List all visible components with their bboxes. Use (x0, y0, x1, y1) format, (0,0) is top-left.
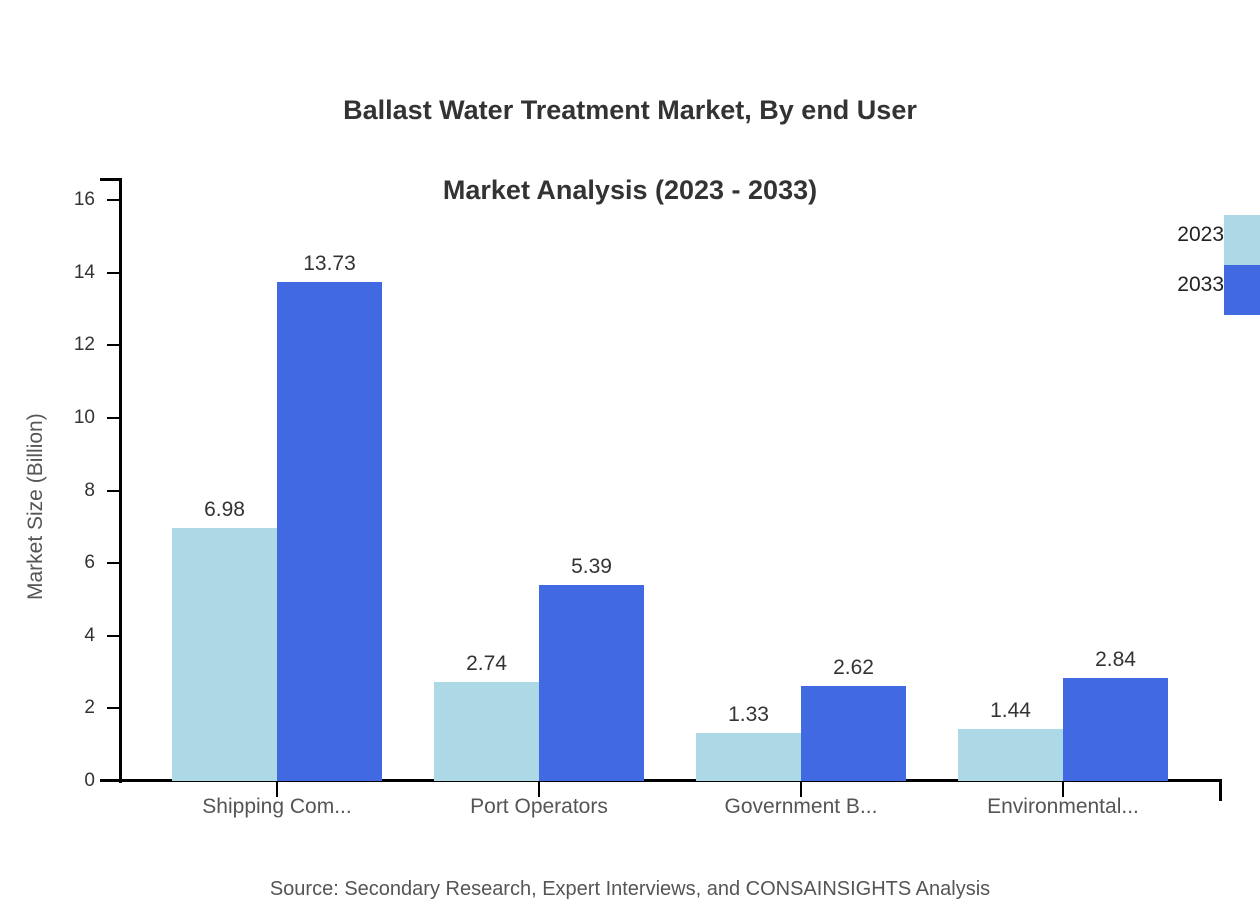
bar-value-label: 2.74 (466, 652, 507, 676)
chart-legend: 20232033 (1120, 215, 1260, 325)
bar-value-label: 2.62 (833, 656, 874, 680)
bar-value-label: 5.39 (571, 555, 612, 579)
legend-swatch (1224, 215, 1260, 265)
bar-2023-3[interactable] (958, 729, 1063, 781)
legend-label: 2033 (1177, 273, 1224, 297)
source-note: Source: Secondary Research, Expert Inter… (0, 878, 1260, 901)
bar-2033-2[interactable] (801, 686, 906, 781)
bar-value-label: 1.44 (990, 699, 1031, 723)
bars-layer: 6.982.741.331.4413.735.392.622.84 (0, 0, 1260, 920)
legend-swatch (1224, 265, 1260, 315)
bar-2033-3[interactable] (1063, 678, 1168, 781)
bar-2023-2[interactable] (696, 733, 801, 781)
bar-value-label: 6.98 (204, 498, 245, 522)
bar-2023-1[interactable] (434, 682, 539, 781)
chart-figure: Ballast Water Treatment Market, By end U… (0, 0, 1260, 920)
bar-value-label: 1.33 (728, 703, 769, 727)
bar-value-label: 13.73 (303, 252, 356, 276)
bar-2023-0[interactable] (172, 528, 277, 781)
bar-value-label: 2.84 (1095, 648, 1136, 672)
legend-label: 2023 (1177, 223, 1224, 247)
legend-item-2023[interactable]: 2023 (1120, 215, 1260, 265)
legend-item-2033[interactable]: 2033 (1120, 265, 1260, 315)
bar-2033-0[interactable] (277, 282, 382, 781)
bar-2033-1[interactable] (539, 585, 644, 781)
